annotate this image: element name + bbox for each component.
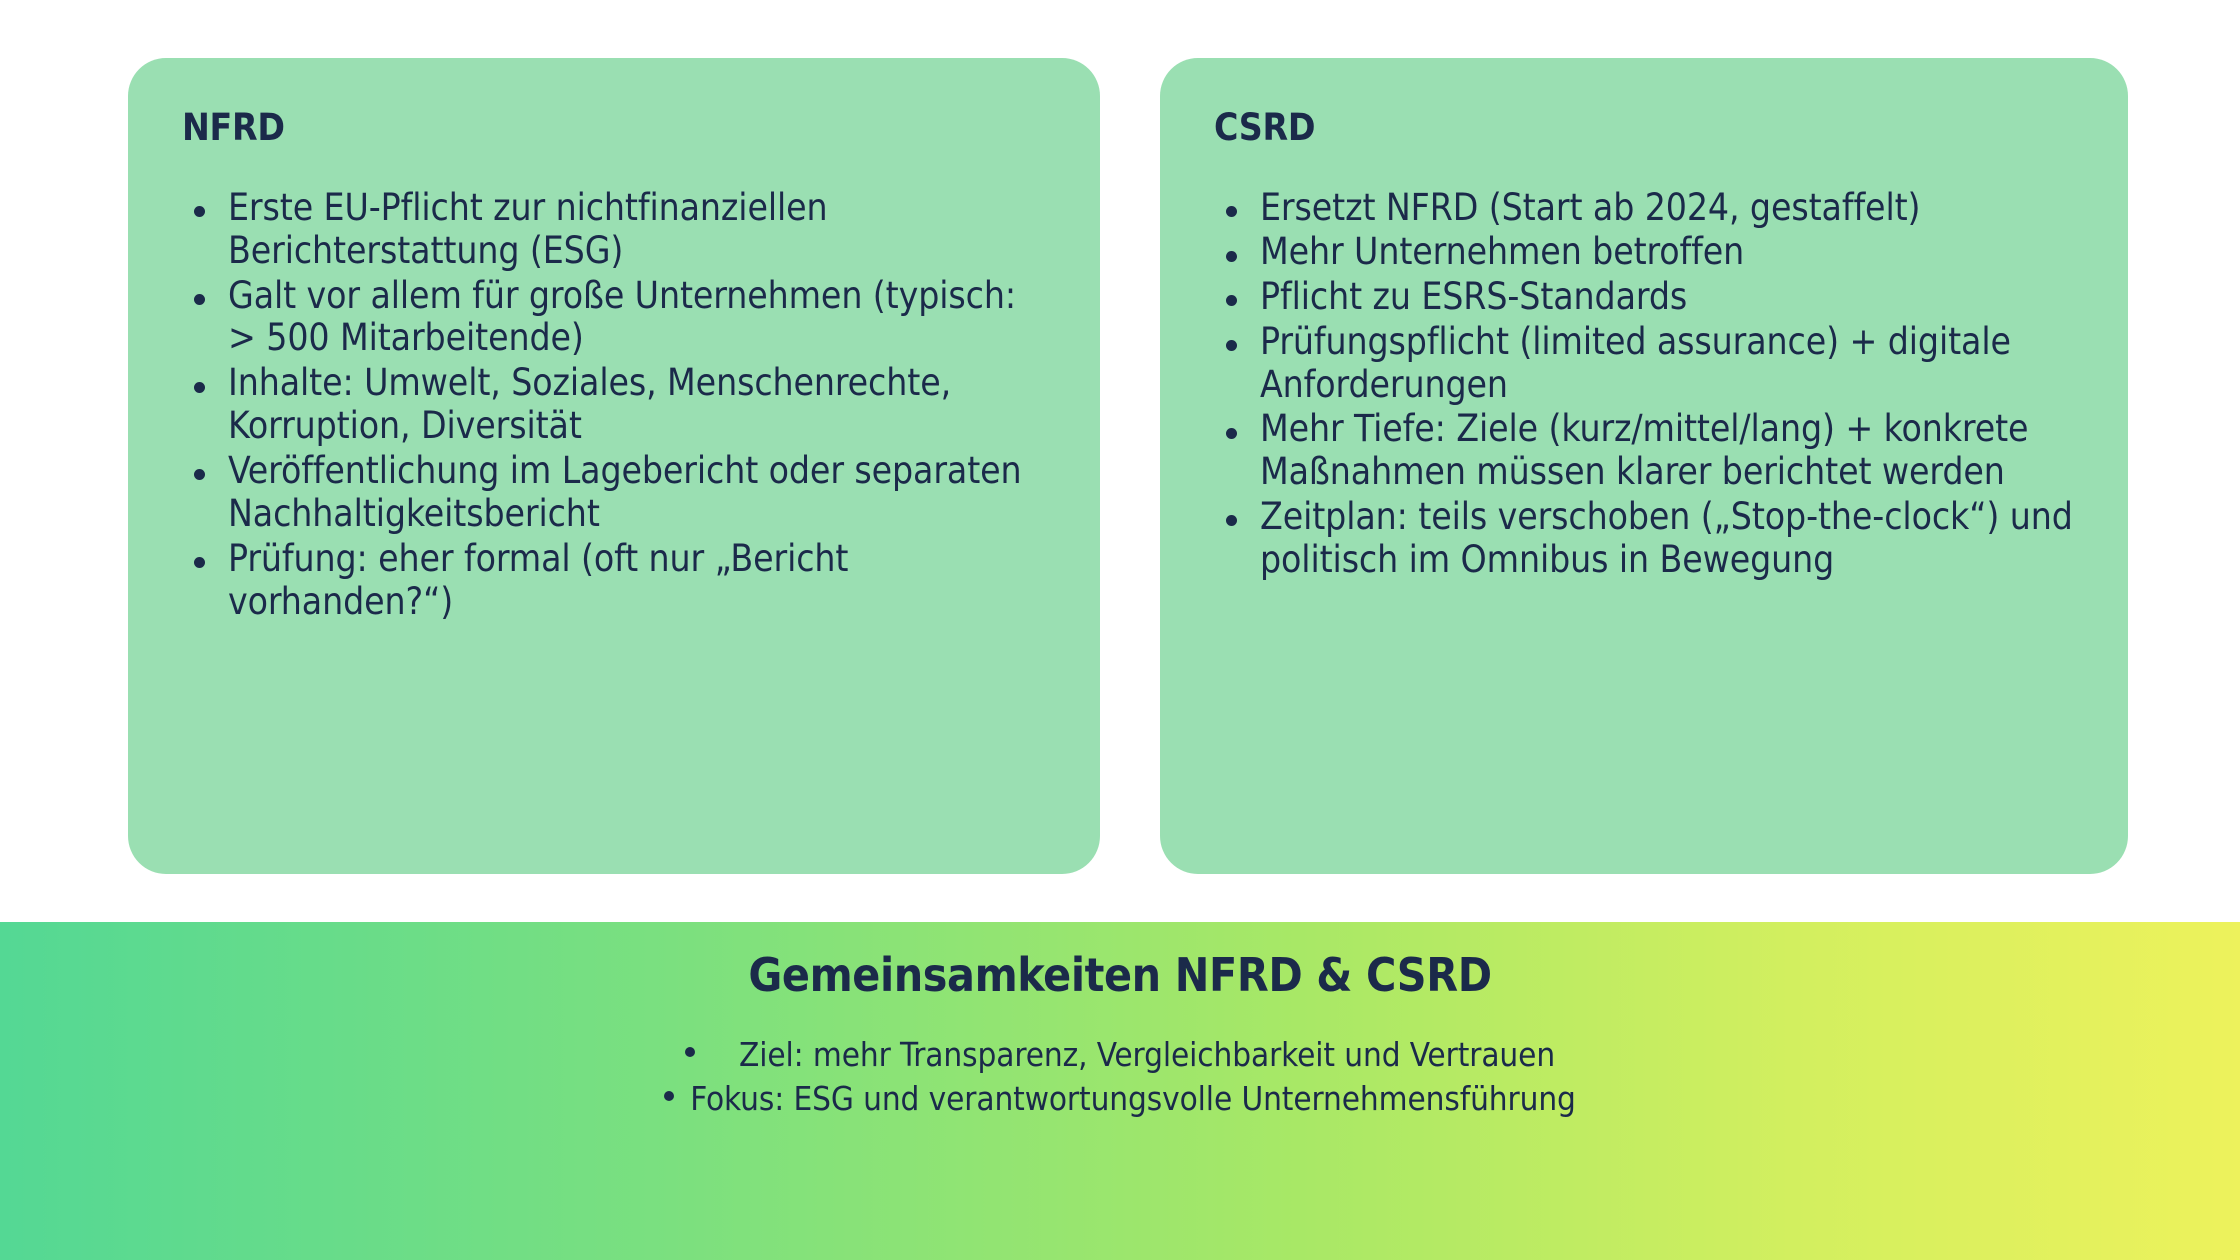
comparison-cards-row: NFRD Erste EU-Pflicht zur nichtfinanziel… xyxy=(0,0,2240,900)
list-item: Mehr Tiefe: Ziele (kurz/mittel/lang) + k… xyxy=(1212,408,2082,493)
list-item-text: Mehr Unternehmen betroffen xyxy=(1260,230,1744,273)
card-nfrd: NFRD Erste EU-Pflicht zur nichtfinanziel… xyxy=(128,58,1100,874)
bullet-dot-icon xyxy=(194,469,205,480)
list-item: Prüfung: eher formal (oft nur „Bericht v… xyxy=(180,538,1054,624)
bullet-dot-icon xyxy=(664,1091,674,1101)
bullet-dot-icon xyxy=(194,557,205,568)
bullet-dot-icon xyxy=(1226,515,1237,526)
banner-title: Gemeinsamkeiten NFRD & CSRD xyxy=(0,950,2240,1001)
list-item-text: Prüfungspflicht (limited assurance) + di… xyxy=(1260,320,2011,406)
list-item: Mehr Unternehmen betroffen xyxy=(1212,231,2082,274)
list-item-text: Erste EU-Pflicht zur nichtfinanziellen B… xyxy=(228,186,828,272)
list-item: Zeitplan: teils verschoben („Stop-the-cl… xyxy=(1212,496,2082,581)
list-item-text: Galt vor allem für große Unternehmen (ty… xyxy=(228,274,1016,360)
list-item: Ziel: mehr Transparenz, Vergleichbarkeit… xyxy=(0,1035,2240,1075)
list-item-text: Pflicht zu ESRS-Standards xyxy=(1260,275,1687,318)
list-item-text: Veröffentlichung im Lagebericht oder sep… xyxy=(228,449,1022,535)
list-item: Pflicht zu ESRS-Standards xyxy=(1212,276,2082,319)
bullet-dot-icon xyxy=(1226,295,1237,306)
bullet-dot-icon xyxy=(1226,428,1237,439)
list-item: Ersetzt NFRD (Start ab 2024, gestaffelt) xyxy=(1212,187,2082,230)
list-item: Veröffentlichung im Lagebericht oder sep… xyxy=(180,450,1054,536)
list-item: Erste EU-Pflicht zur nichtfinanziellen B… xyxy=(180,187,1054,273)
bullet-dot-icon xyxy=(685,1047,695,1057)
card-csrd-title: CSRD xyxy=(1214,108,2082,149)
card-csrd-bullet-list: Ersetzt NFRD (Start ab 2024, gestaffelt)… xyxy=(1212,187,2082,582)
card-nfrd-title: NFRD xyxy=(182,108,1054,149)
list-item-text: Ersetzt NFRD (Start ab 2024, gestaffelt) xyxy=(1260,186,1920,229)
list-item-text: Inhalte: Umwelt, Soziales, Menschenrecht… xyxy=(228,361,951,447)
list-item: Inhalte: Umwelt, Soziales, Menschenrecht… xyxy=(180,362,1054,448)
list-item-text: Zeitplan: teils verschoben („Stop-the-cl… xyxy=(1260,495,2073,581)
list-item-text: Mehr Tiefe: Ziele (kurz/mittel/lang) + k… xyxy=(1260,407,2028,493)
bullet-dot-icon xyxy=(1226,340,1237,351)
bullet-dot-icon xyxy=(194,294,205,305)
bullet-dot-icon xyxy=(194,206,205,217)
bullet-dot-icon xyxy=(1226,251,1237,262)
banner-bullet-list: Ziel: mehr Transparenz, Vergleichbarkeit… xyxy=(0,1035,2240,1120)
list-item: Fokus: ESG und verantwortungsvolle Unter… xyxy=(0,1079,2240,1119)
list-item-text: Fokus: ESG und verantwortungsvolle Unter… xyxy=(690,1079,1576,1118)
card-nfrd-bullet-list: Erste EU-Pflicht zur nichtfinanziellen B… xyxy=(180,187,1054,624)
slide-root: NFRD Erste EU-Pflicht zur nichtfinanziel… xyxy=(0,0,2240,1260)
list-item: Galt vor allem für große Unternehmen (ty… xyxy=(180,275,1054,361)
bullet-dot-icon xyxy=(194,382,205,393)
bullet-dot-icon xyxy=(1226,206,1237,217)
commonalities-banner: Gemeinsamkeiten NFRD & CSRD Ziel: mehr T… xyxy=(0,922,2240,1260)
card-csrd: CSRD Ersetzt NFRD (Start ab 2024, gestaf… xyxy=(1160,58,2128,874)
list-item-text: Ziel: mehr Transparenz, Vergleichbarkeit… xyxy=(739,1035,1555,1074)
list-item: Prüfungspflicht (limited assurance) + di… xyxy=(1212,321,2082,406)
list-item-text: Prüfung: eher formal (oft nur „Bericht v… xyxy=(228,537,848,623)
